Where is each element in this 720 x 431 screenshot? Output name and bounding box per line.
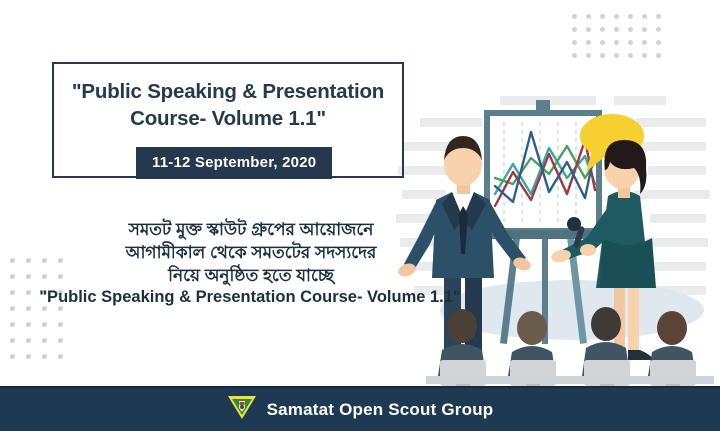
- dot-grid-top-right: [572, 14, 670, 66]
- body-text-bengali: সমতট মুক্ত স্কাউট গ্রুপের আয়োজনে আগামীক…: [28, 218, 474, 287]
- scout-triangle-emblem-icon: [227, 394, 257, 425]
- page-title: "Public Speaking & Presentation Course- …: [48, 78, 408, 132]
- organization-name: Samatat Open Scout Group: [267, 400, 494, 420]
- poster-canvas: "Public Speaking & Presentation Course- …: [0, 0, 720, 431]
- bengali-line-1: সমতট মুক্ত স্কাউট গ্রুপের আয়োজনে: [28, 218, 474, 241]
- bengali-line-3: নিয়ে অনুষ্ঠিত হতে যাচ্ছে: [28, 264, 474, 287]
- title-line-1: "Public Speaking & Presentation: [48, 78, 408, 105]
- subtitle-english: "Public Speaking & Presentation Course- …: [20, 288, 480, 307]
- bengali-line-2: আগামীকাল থেকে সমতটের সদস্যদের: [28, 241, 474, 264]
- date-badge: 11-12 September, 2020: [136, 147, 332, 179]
- title-line-2: Course- Volume 1.1": [48, 105, 408, 132]
- footer-bar: Samatat Open Scout Group: [0, 386, 720, 431]
